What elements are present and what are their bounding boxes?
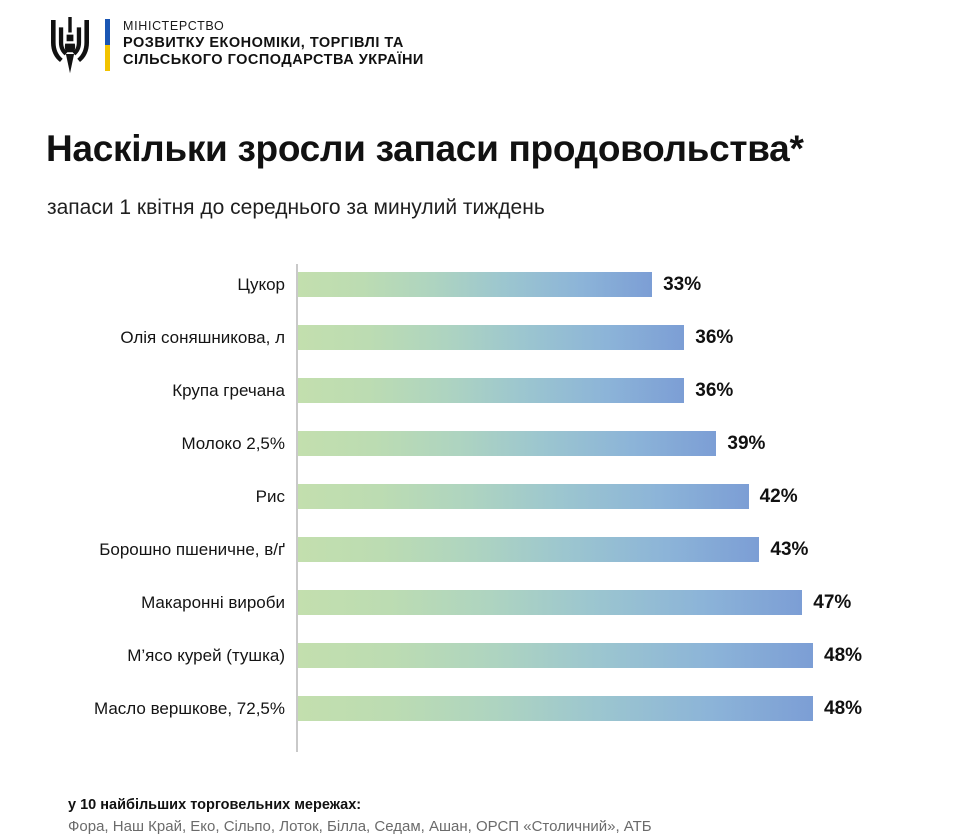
chart-bar <box>298 484 749 509</box>
chart-bar-group: 36% <box>298 311 733 364</box>
footnote-store-list: Фора, Наш Край, Еко, Сільпо, Лоток, Білл… <box>68 816 652 838</box>
ukraine-trident-icon <box>48 16 92 74</box>
chart-bar-group: 47% <box>298 576 851 629</box>
chart-bar-group: 48% <box>298 629 862 682</box>
chart-category-label: Макаронні вироби <box>0 593 285 613</box>
chart-bar <box>298 590 802 615</box>
chart-value-label: 33% <box>663 274 701 296</box>
ministry-name: МІНІСТЕРСТВО РОЗВИТКУ ЕКОНОМІКИ, ТОРГІВЛ… <box>123 19 424 70</box>
chart-bar <box>298 431 716 456</box>
page-title: Наскільки зросли запаси продовольства* <box>46 128 804 170</box>
chart-row: Крупа гречана36% <box>0 364 960 417</box>
chart-value-label: 39% <box>727 433 765 455</box>
chart-row: М’ясо курей (тушка)48% <box>0 629 960 682</box>
chart-value-label: 43% <box>770 539 808 561</box>
ministry-line-3: СІЛЬСЬКОГО ГОСПОДАРСТВА УКРАЇНИ <box>123 52 424 70</box>
ministry-line-1: МІНІСТЕРСТВО <box>123 19 424 35</box>
chart-value-label: 48% <box>824 698 862 720</box>
chart-value-label: 42% <box>760 486 798 508</box>
chart-bar-group: 48% <box>298 682 862 735</box>
chart-bar <box>298 272 652 297</box>
chart-bar <box>298 325 684 350</box>
chart-bar-group: 36% <box>298 364 733 417</box>
chart-category-label: М’ясо курей (тушка) <box>0 646 285 666</box>
chart-row: Цукор33% <box>0 258 960 311</box>
footnote-title: у 10 найбільших торговельних мережах: <box>68 795 652 816</box>
chart-category-label: Олія соняшникова, л <box>0 328 285 348</box>
chart-row: Макаронні вироби47% <box>0 576 960 629</box>
chart-category-label: Молоко 2,5% <box>0 434 285 454</box>
chart-bar-group: 39% <box>298 417 765 470</box>
chart-category-label: Крупа гречана <box>0 381 285 401</box>
bar-chart: Цукор33%Олія соняшникова, л36%Крупа греч… <box>0 258 960 754</box>
chart-bar <box>298 643 813 668</box>
chart-category-label: Борошно пшеничне, в/ґ <box>0 540 285 560</box>
ministry-line-2: РОЗВИТКУ ЕКОНОМІКИ, ТОРГІВЛІ ТА <box>123 35 424 53</box>
chart-row: Масло вершкове, 72,5%48% <box>0 682 960 735</box>
chart-bar-group: 33% <box>298 258 701 311</box>
chart-category-label: Масло вершкове, 72,5% <box>0 699 285 719</box>
chart-value-label: 36% <box>695 327 733 349</box>
chart-rows: Цукор33%Олія соняшникова, л36%Крупа греч… <box>0 258 960 735</box>
chart-category-label: Цукор <box>0 275 285 295</box>
chart-bar <box>298 378 684 403</box>
chart-value-label: 47% <box>813 592 851 614</box>
chart-bar <box>298 696 813 721</box>
chart-value-label: 48% <box>824 645 862 667</box>
chart-row: Молоко 2,5%39% <box>0 417 960 470</box>
ministry-header: МІНІСТЕРСТВО РОЗВИТКУ ЕКОНОМІКИ, ТОРГІВЛ… <box>48 16 424 84</box>
chart-row: Олія соняшникова, л36% <box>0 311 960 364</box>
chart-row: Борошно пшеничне, в/ґ43% <box>0 523 960 576</box>
chart-bar <box>298 537 759 562</box>
chart-footnote: у 10 найбільших торговельних мережах: Фо… <box>68 795 652 838</box>
chart-bar-group: 43% <box>298 523 808 576</box>
ukraine-flag-divider-icon <box>105 19 110 71</box>
chart-row: Рис42% <box>0 470 960 523</box>
chart-category-label: Рис <box>0 487 285 507</box>
chart-bar-group: 42% <box>298 470 798 523</box>
page-subtitle: запаси 1 квітня до середнього за минулий… <box>47 196 545 220</box>
chart-value-label: 36% <box>695 380 733 402</box>
